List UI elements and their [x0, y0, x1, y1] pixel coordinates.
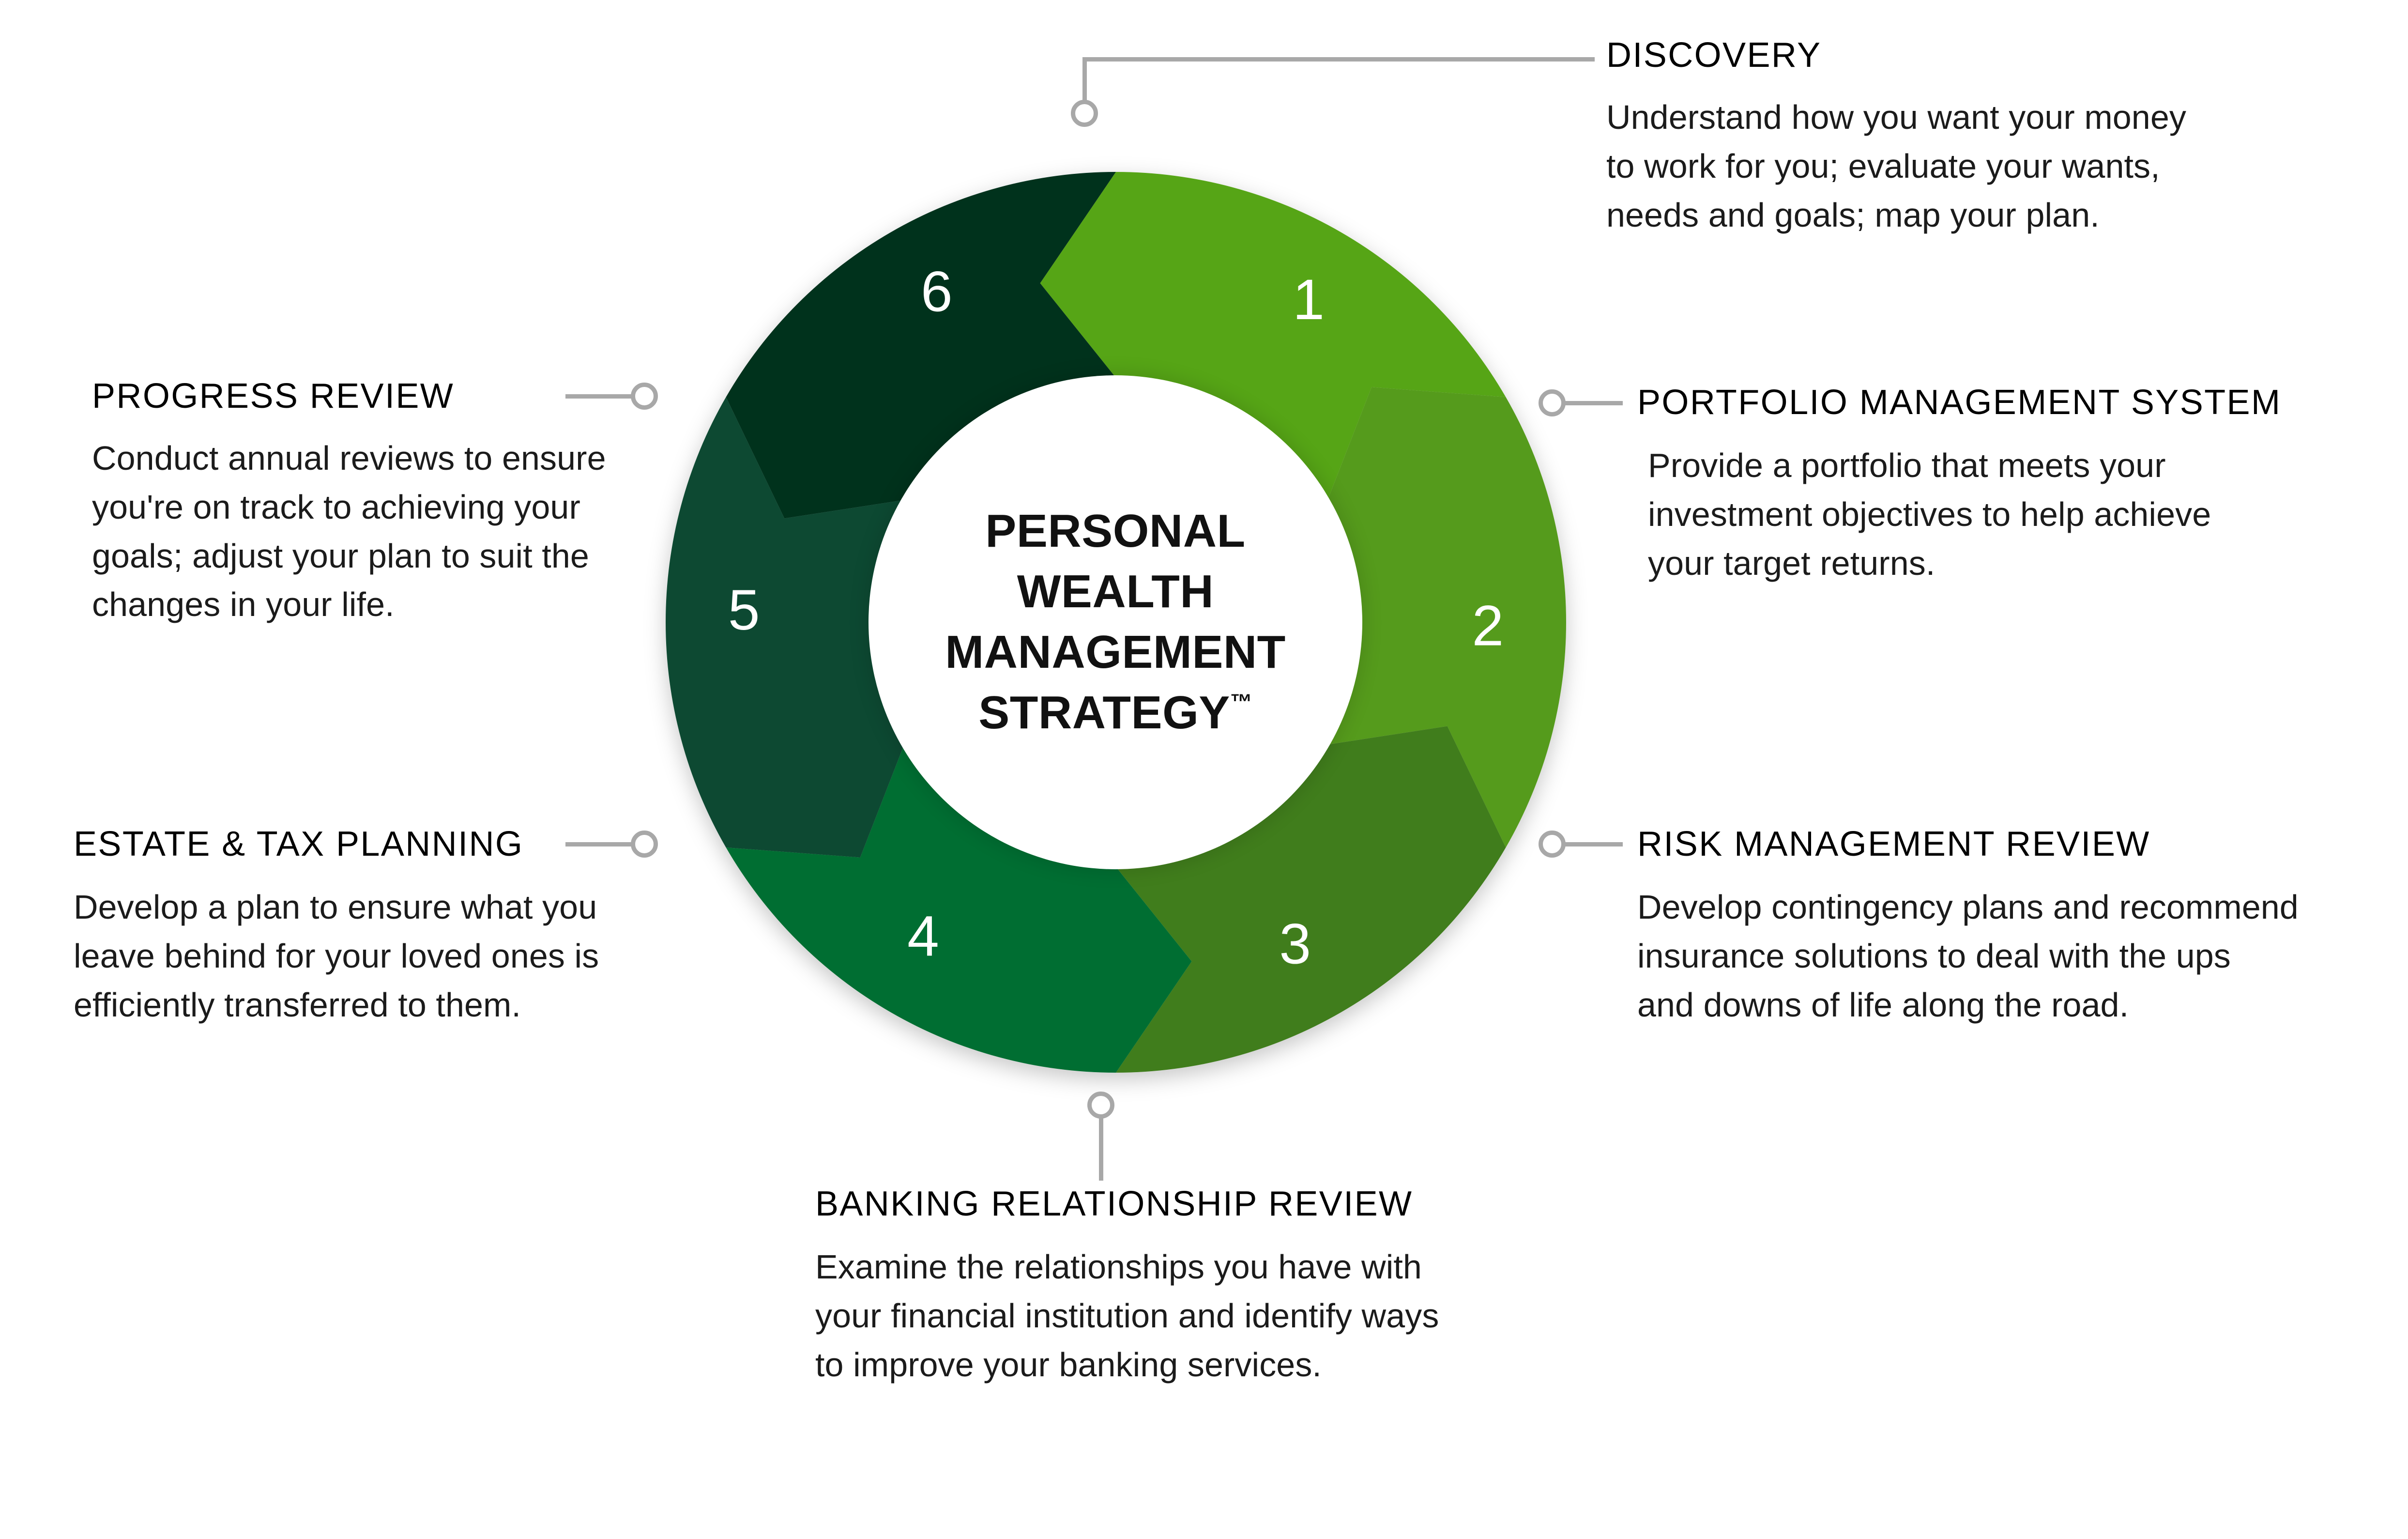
- center-title-line-4: STRATEGY™: [945, 683, 1286, 743]
- connector-dot-banking: [1087, 1092, 1114, 1119]
- callout-portfolio-body-line-2: investment objectives to help achieve: [1648, 490, 2281, 539]
- callout-risk: RISK MANAGEMENT REVIEW Develop contingen…: [1637, 827, 2299, 1029]
- callout-progress-body: Conduct annual reviews to ensure you're …: [92, 434, 606, 629]
- center-title-line-3: MANAGEMENT: [945, 622, 1286, 683]
- callout-progress-body-line-2: you're on track to achieving your: [92, 483, 606, 532]
- callout-portfolio: PORTFOLIO MANAGEMENT SYSTEM Provide a po…: [1637, 385, 2281, 587]
- callout-progress-body-line-4: changes in your life.: [92, 580, 606, 629]
- callout-banking-title: BANKING RELATIONSHIP REVIEW: [815, 1186, 1439, 1221]
- segment-6-number: 6: [921, 260, 953, 324]
- callout-estate-body-line-3: efficiently transferred to them.: [74, 981, 599, 1030]
- callout-banking-body: Examine the relationships you have with …: [815, 1243, 1439, 1389]
- callout-progress: PROGRESS REVIEW Conduct annual reviews t…: [92, 379, 606, 629]
- connector-line-portfolio: [1565, 401, 1623, 405]
- callout-discovery-body-line-3: needs and goals; map your plan.: [1606, 191, 2186, 240]
- trademark-symbol: ™: [1230, 689, 1252, 714]
- connector-dot-progress: [631, 383, 658, 410]
- segment-3-number: 3: [1279, 912, 1311, 976]
- callout-portfolio-body: Provide a portfolio that meets your inve…: [1648, 441, 2281, 587]
- callout-progress-body-line-3: goals; adjust your plan to suit the: [92, 532, 606, 581]
- center-title-line-2: WEALTH: [945, 562, 1286, 622]
- callout-banking-body-line-2: your financial institution and identify …: [815, 1292, 1439, 1340]
- connector-line-banking: [1099, 1117, 1103, 1181]
- callout-discovery-title: DISCOVERY: [1606, 38, 2186, 73]
- segment-2-number: 2: [1472, 594, 1504, 658]
- callout-risk-body-line-1: Develop contingency plans and recommend: [1637, 883, 2299, 932]
- center-hub: PERSONAL WEALTH MANAGEMENT STRATEGY™: [869, 375, 1362, 869]
- callout-portfolio-body-line-3: your target returns.: [1648, 539, 2281, 588]
- callout-risk-title: RISK MANAGEMENT REVIEW: [1637, 827, 2299, 862]
- callout-risk-body-line-2: insurance solutions to deal with the ups: [1637, 932, 2299, 981]
- connector-dot-estate: [631, 831, 658, 858]
- center-title-strategy: STRATEGY: [978, 687, 1230, 739]
- connector-dot-discovery: [1071, 100, 1098, 127]
- connector-line-discovery-horizontal: [1082, 57, 1595, 62]
- diagram-canvas: 123456 PERSONAL WEALTH MANAGEMENT STRATE…: [0, 0, 2408, 1539]
- connector-line-discovery-vertical: [1082, 57, 1087, 103]
- callout-banking-body-line-1: Examine the relationships you have with: [815, 1243, 1439, 1292]
- callout-estate-body-line-2: leave behind for your loved ones is: [74, 932, 599, 981]
- callout-portfolio-body-line-1: Provide a portfolio that meets your: [1648, 441, 2281, 490]
- callout-discovery-body-line-2: to work for you; evaluate your wants,: [1606, 142, 2186, 191]
- callout-discovery: DISCOVERY Understand how you want your m…: [1606, 38, 2186, 239]
- connector-dot-portfolio: [1539, 389, 1566, 416]
- callout-estate-body: Develop a plan to ensure what you leave …: [74, 883, 599, 1029]
- callout-estate: ESTATE & TAX PLANNING Develop a plan to …: [74, 827, 599, 1029]
- connector-dot-risk: [1539, 831, 1566, 858]
- callout-estate-title: ESTATE & TAX PLANNING: [74, 827, 599, 862]
- callout-risk-body-line-3: and downs of life along the road.: [1637, 981, 2299, 1030]
- segment-1-number: 1: [1293, 268, 1325, 332]
- callout-portfolio-title: PORTFOLIO MANAGEMENT SYSTEM: [1637, 385, 2281, 420]
- callout-discovery-body-line-1: Understand how you want your money: [1606, 93, 2186, 142]
- center-title: PERSONAL WEALTH MANAGEMENT STRATEGY™: [945, 501, 1286, 743]
- connector-line-risk: [1565, 842, 1623, 846]
- callout-estate-body-line-1: Develop a plan to ensure what you: [74, 883, 599, 932]
- callout-progress-title: PROGRESS REVIEW: [92, 379, 606, 414]
- callout-banking: BANKING RELATIONSHIP REVIEW Examine the …: [815, 1186, 1439, 1389]
- callout-banking-body-line-3: to improve your banking services.: [815, 1340, 1439, 1389]
- callout-progress-body-line-1: Conduct annual reviews to ensure: [92, 434, 606, 483]
- segment-5-number: 5: [728, 578, 760, 642]
- center-title-line-1: PERSONAL: [945, 501, 1286, 562]
- segment-4-number: 4: [907, 905, 939, 969]
- callout-risk-body: Develop contingency plans and recommend …: [1637, 883, 2299, 1029]
- callout-discovery-body: Understand how you want your money to wo…: [1606, 93, 2186, 239]
